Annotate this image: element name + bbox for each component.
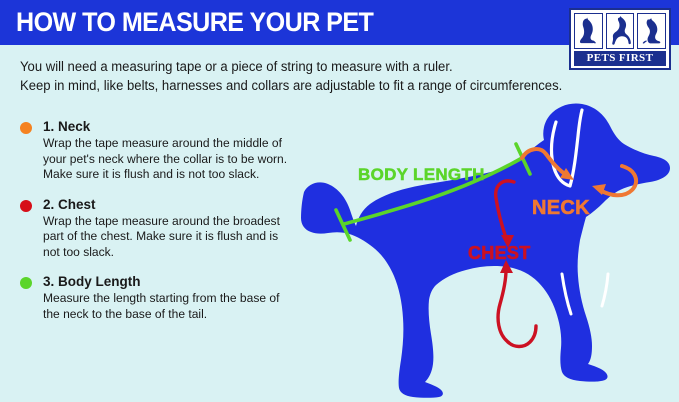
- page-title: HOW TO MEASURE YOUR PET: [16, 7, 373, 37]
- dog-sitting-icon: [574, 13, 603, 49]
- step-body-body-length: Measure the length starting from the bas…: [43, 291, 297, 322]
- label-neck: NECK: [532, 197, 590, 219]
- pets-first-logo: PETS FIRST: [569, 8, 671, 70]
- step-title-neck: 1. Neck: [43, 118, 302, 135]
- intro-paragraph: You will need a measuring tape or a piec…: [20, 57, 580, 95]
- step-item-chest: 2. Chest Wrap the tape measure around th…: [20, 196, 302, 261]
- step-body-neck: Wrap the tape measure around the middle …: [43, 136, 297, 183]
- label-body-length: BODY LENGTH: [358, 165, 485, 184]
- logo-wordmark: PETS FIRST: [574, 51, 666, 66]
- step-item-neck: 1. Neck Wrap the tape measure around the…: [20, 118, 302, 183]
- dog-measurement-diagram: BODY LENGTH NECK CHEST: [292, 96, 679, 402]
- step-body-chest: Wrap the tape measure around the broades…: [43, 214, 297, 261]
- step-title-chest: 2. Chest: [43, 196, 302, 213]
- intro-line-2: Keep in mind, like belts, harnesses and …: [20, 76, 563, 95]
- intro-line-1: You will need a measuring tape or a piec…: [20, 57, 563, 76]
- how-to-measure-your-pet-infographic: HOW TO MEASURE YOUR PET PETS: [0, 0, 679, 402]
- label-chest: CHEST: [468, 243, 531, 263]
- bullet-body-length: [20, 277, 32, 289]
- dog-front-leg-line-2: [602, 274, 608, 306]
- dog-standing-icon: [606, 13, 635, 49]
- bullet-chest: [20, 200, 32, 212]
- bullet-neck: [20, 122, 32, 134]
- step-title-body-length: 3. Body Length: [43, 273, 302, 290]
- step-item-body-length: 3. Body Length Measure the length starti…: [20, 273, 302, 322]
- logo-icon-row: [574, 13, 666, 49]
- measurement-steps-list: 1. Neck Wrap the tape measure around the…: [20, 118, 302, 335]
- dog-sitting-alt-icon: [637, 13, 666, 49]
